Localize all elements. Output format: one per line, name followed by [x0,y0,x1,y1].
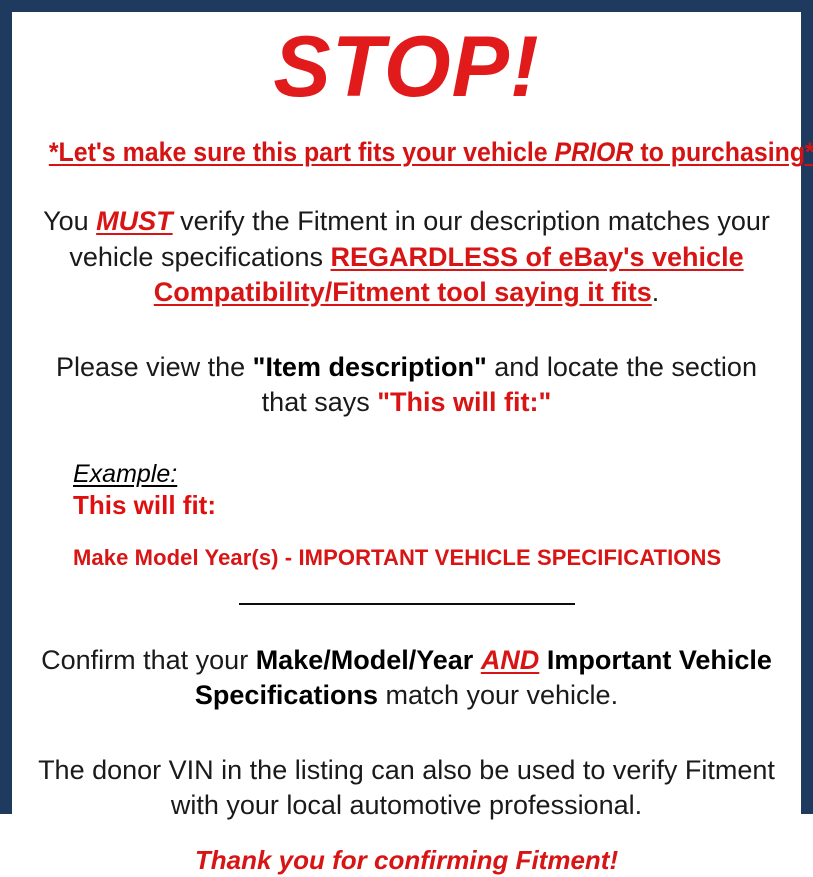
confirm-seg-lead: Confirm that your [41,645,256,675]
example-block: Example: This will fit: Make Model Year(… [26,460,787,571]
page-title: STOP! [26,24,787,110]
divider-wrapper [26,595,787,613]
subtitle-emphasis-prior: PRIOR [555,137,634,167]
this-will-fit-quoted-label: "This will fit:" [377,387,551,417]
must-seg-period: . [652,277,660,307]
fitment-notice-card: STOP! *Let's make sure this part fits yo… [0,0,813,814]
item-description-paragraph: Please view the "Item description" and l… [26,350,787,420]
must-seg-lead: You [43,206,96,236]
notice-content-area: STOP! *Let's make sure this part fits yo… [12,24,801,814]
and-emphasis: AND [481,645,540,675]
horizontal-divider [239,603,575,605]
donor-vin-paragraph: The donor VIN in the listing can also be… [26,753,787,823]
example-fit-heading: This will fit: [73,490,787,521]
subtitle-tail-text: to purchasing* [633,137,813,167]
confirm-paragraph: Confirm that your Make/Model/Year AND Im… [26,643,787,713]
closing-thank-you: Thank you for confirming Fitment! [26,845,787,876]
subtitle-banner: *Let's make sure this part fits your veh… [49,137,764,167]
example-spec-line: Make Model Year(s) - IMPORTANT VEHICLE S… [73,545,787,571]
example-label: Example: [73,460,787,488]
item-description-quoted-label: "Item description" [253,352,487,382]
subtitle-lead-text: *Let's make sure this part fits your veh… [49,137,555,167]
itemdesc-seg-lead: Please view the [56,352,253,382]
must-emphasis: MUST [96,206,173,236]
confirm-seg-tail: match your vehicle. [378,680,618,710]
must-verify-paragraph: You MUST verify the Fitment in our descr… [26,204,787,309]
make-model-year-emphasis: Make/Model/Year [256,645,474,675]
